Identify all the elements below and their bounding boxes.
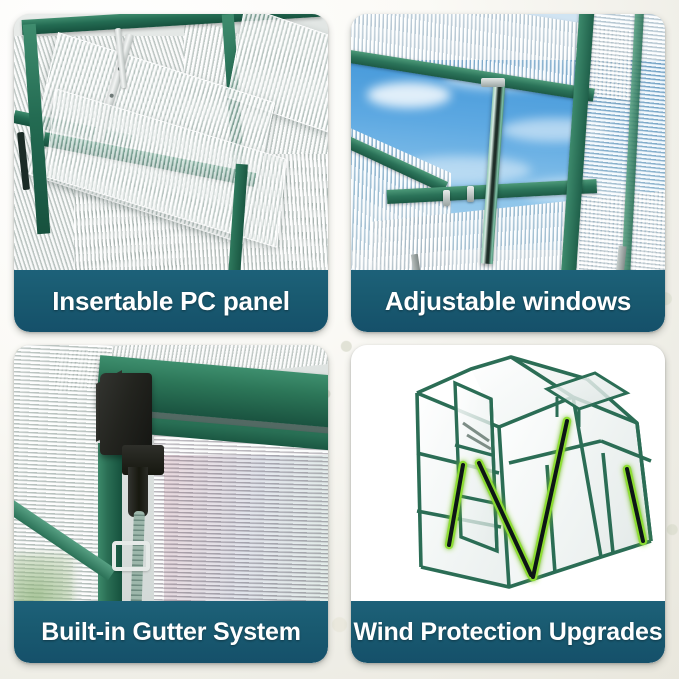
pc-panel-installed: [26, 32, 275, 244]
roof-vent: [547, 373, 627, 427]
frame-rafter-left: [14, 110, 133, 148]
cloud: [357, 202, 447, 222]
card-label-text: Adjustable windows: [385, 286, 631, 317]
roof-ridge-beam: [22, 14, 322, 35]
card-label-bar: Wind Protection Upgrades: [351, 601, 665, 663]
polycarbonate-roof-right: [184, 14, 328, 297]
card-label-text: Wind Protection Upgrades: [354, 618, 663, 647]
stay-bar-hole: [109, 93, 114, 98]
vent-sash-left: [351, 131, 448, 193]
vent-hinge: [467, 186, 474, 202]
vent-hinge: [443, 190, 450, 206]
pc-panel-right: [227, 14, 328, 136]
vent-sash-bottom: [387, 179, 597, 204]
frame-structure: [417, 357, 651, 587]
panel-iridescence: [164, 455, 328, 605]
roof-panel-top: [351, 14, 631, 101]
gutter-lower-rail: [109, 411, 328, 451]
cloud: [443, 68, 563, 90]
feature-card-built-in-gutter-system[interactable]: Built-in Gutter System: [14, 345, 328, 663]
roof-panel: [54, 345, 328, 393]
frame-upright-left: [23, 24, 51, 234]
panel-slot-channel: [17, 132, 30, 190]
card-label-bar: Adjustable windows: [351, 270, 665, 332]
door-stay: [463, 423, 491, 449]
greenhouse-door: [455, 383, 497, 551]
card-label-bar: Insertable PC panel: [14, 270, 328, 332]
feature-card-wind-protection-upgrades[interactable]: Wind Protection Upgrades: [351, 345, 665, 663]
wind-brace-highlights: [449, 421, 643, 577]
cloud: [521, 178, 641, 204]
frame-cross-beam: [43, 132, 257, 187]
cloud: [501, 118, 611, 142]
card-label-bar: Built-in Gutter System: [14, 601, 328, 663]
gutter-main-beam: [96, 355, 328, 428]
card-label-text: Insertable PC panel: [52, 286, 290, 317]
gutter-cap-bevel: [96, 370, 122, 442]
card-label-text: Built-in Gutter System: [41, 618, 301, 647]
hose-clip: [112, 541, 150, 571]
pc-panel-being-inserted: [45, 88, 287, 248]
window-prop-arm: [481, 84, 506, 264]
feature-card-insertable-pc-panel[interactable]: Insertable PC panel: [14, 14, 328, 332]
gutter-end-cap: [100, 373, 152, 455]
cloud: [367, 82, 451, 108]
glazing-faces: [417, 357, 651, 587]
frame-diagonal-rail: [14, 496, 116, 580]
brace-glow: [449, 421, 643, 577]
feature-card-adjustable-windows[interactable]: Adjustable windows: [351, 14, 665, 332]
window-stay-bracket: [115, 28, 127, 88]
greenhouse-render: [351, 345, 665, 603]
stay-bar-hole: [117, 66, 122, 71]
downspout-outlet: [122, 445, 164, 475]
sky-background: [351, 60, 665, 250]
feature-grid: Insertable PC panel: [0, 0, 679, 679]
window-stay-bar: [94, 33, 134, 142]
frame-rafter-right: [222, 14, 247, 194]
prop-arm-top-bracket: [481, 78, 505, 87]
wall-panel-right: [579, 14, 665, 304]
brace-core: [449, 421, 643, 577]
downspout-pipe: [128, 467, 148, 517]
cloud: [391, 156, 531, 184]
gutter-channel: [105, 401, 328, 434]
vent-sash-top: [351, 48, 595, 102]
